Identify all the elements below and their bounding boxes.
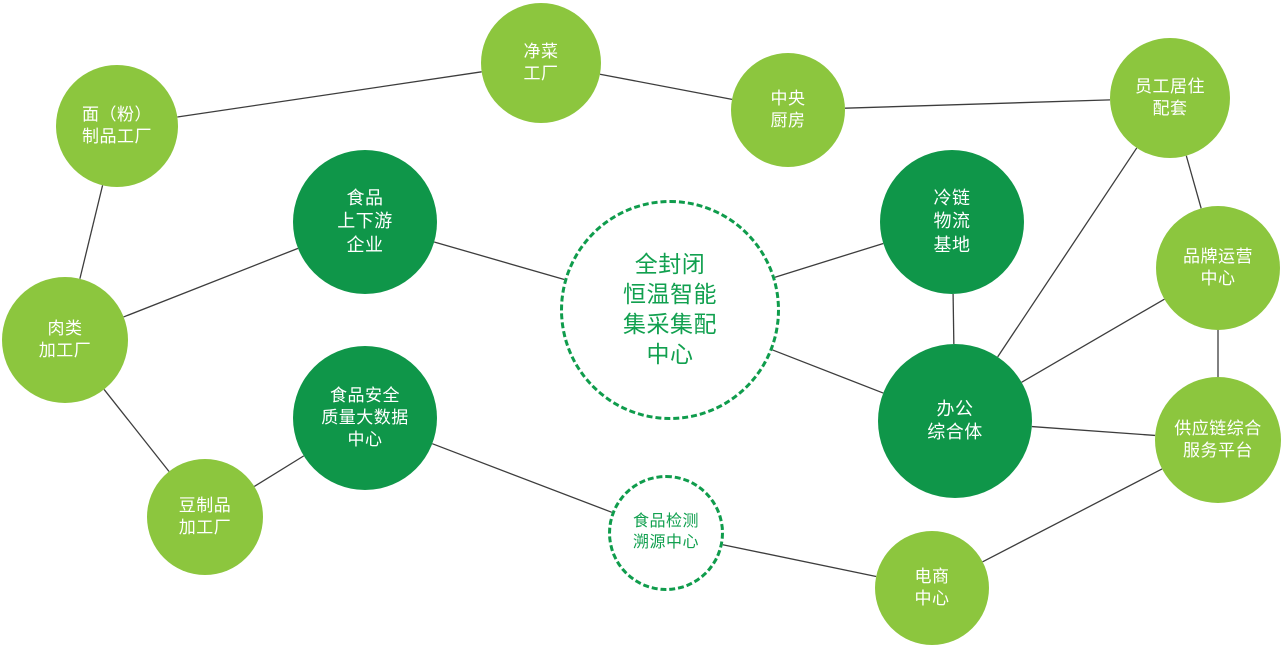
node-label-food-testing-traceability-center: 食品检测 溯源中心 [633,512,699,554]
edge-noodle-factory-to-meat-processing-factory [80,185,103,279]
edge-food-safety-big-data-center-to-bean-product-factory [254,456,303,487]
edge-ecommerce-center-to-food-testing-traceability-center [723,545,876,577]
diagram-canvas: 面（粉） 制品工厂净菜 工厂中央 厨房员工居住 配套食品 上下游 企业冷链 物流… [0,0,1283,651]
node-label-supply-chain-service-platform: 供应链综合 服务平台 [1174,418,1262,462]
node-office-complex[interactable]: 办公 综合体 [878,344,1032,498]
node-cold-chain-logistics-base[interactable]: 冷链 物流 基地 [880,150,1024,294]
edge-cold-chain-logistics-base-to-office-complex [953,294,954,344]
node-supply-chain-service-platform[interactable]: 供应链综合 服务平台 [1155,377,1281,503]
edge-food-upstream-downstream-to-central-hub [434,242,564,280]
node-staff-housing[interactable]: 员工居住 配套 [1110,38,1230,158]
node-label-food-upstream-downstream: 食品 上下游 企业 [337,187,393,257]
node-label-meat-processing-factory: 肉类 加工厂 [39,318,92,362]
node-label-central-kitchen: 中央 厨房 [771,88,806,132]
node-label-ecommerce-center: 电商 中心 [915,566,950,610]
node-label-bean-product-factory: 豆制品 加工厂 [179,495,232,539]
edge-noodle-factory-to-fresh-vegetable-factory [177,72,481,117]
node-brand-operation-center[interactable]: 品牌运营 中心 [1156,206,1280,330]
node-label-noodle-factory: 面（粉） 制品工厂 [82,104,152,148]
node-central-hub[interactable]: 全封闭 恒温智能 集采集配 中心 [560,200,780,420]
node-central-kitchen[interactable]: 中央 厨房 [731,53,845,167]
edge-staff-housing-to-brand-operation-center [1186,156,1201,209]
edge-central-kitchen-to-staff-housing [845,100,1110,108]
edge-fresh-vegetable-factory-to-central-kitchen [600,74,732,99]
node-noodle-factory[interactable]: 面（粉） 制品工厂 [56,65,178,187]
edge-meat-processing-factory-to-bean-product-factory [104,389,169,471]
node-label-office-complex: 办公 综合体 [927,398,983,445]
node-meat-processing-factory[interactable]: 肉类 加工厂 [2,277,128,403]
node-label-food-safety-big-data-center: 食品安全 质量大数据 中心 [321,385,409,451]
edge-food-testing-traceability-center-to-food-safety-big-data-center [432,444,612,513]
node-label-cold-chain-logistics-base: 冷链 物流 基地 [934,187,971,257]
node-label-staff-housing: 员工居住 配套 [1135,76,1205,120]
node-ecommerce-center[interactable]: 电商 中心 [875,531,989,645]
node-label-fresh-vegetable-factory: 净菜 工厂 [524,41,559,85]
edge-brand-operation-center-to-office-complex [1022,299,1165,382]
node-food-safety-big-data-center[interactable]: 食品安全 质量大数据 中心 [293,346,437,490]
node-label-brand-operation-center: 品牌运营 中心 [1183,246,1253,290]
edge-central-hub-to-cold-chain-logistics-base [775,243,883,277]
node-food-testing-traceability-center[interactable]: 食品检测 溯源中心 [608,475,724,591]
node-label-central-hub: 全封闭 恒温智能 集采集配 中心 [623,250,717,370]
edge-central-hub-to-office-complex [773,350,884,393]
node-food-upstream-downstream[interactable]: 食品 上下游 企业 [293,150,437,294]
edge-staff-housing-to-office-complex [998,148,1137,357]
edge-meat-processing-factory-to-food-upstream-downstream [124,248,298,317]
edge-office-complex-to-supply-chain-service-platform [1032,427,1155,436]
node-bean-product-factory[interactable]: 豆制品 加工厂 [147,459,263,575]
node-fresh-vegetable-factory[interactable]: 净菜 工厂 [481,3,601,123]
edge-supply-chain-service-platform-to-ecommerce-center [983,469,1162,562]
